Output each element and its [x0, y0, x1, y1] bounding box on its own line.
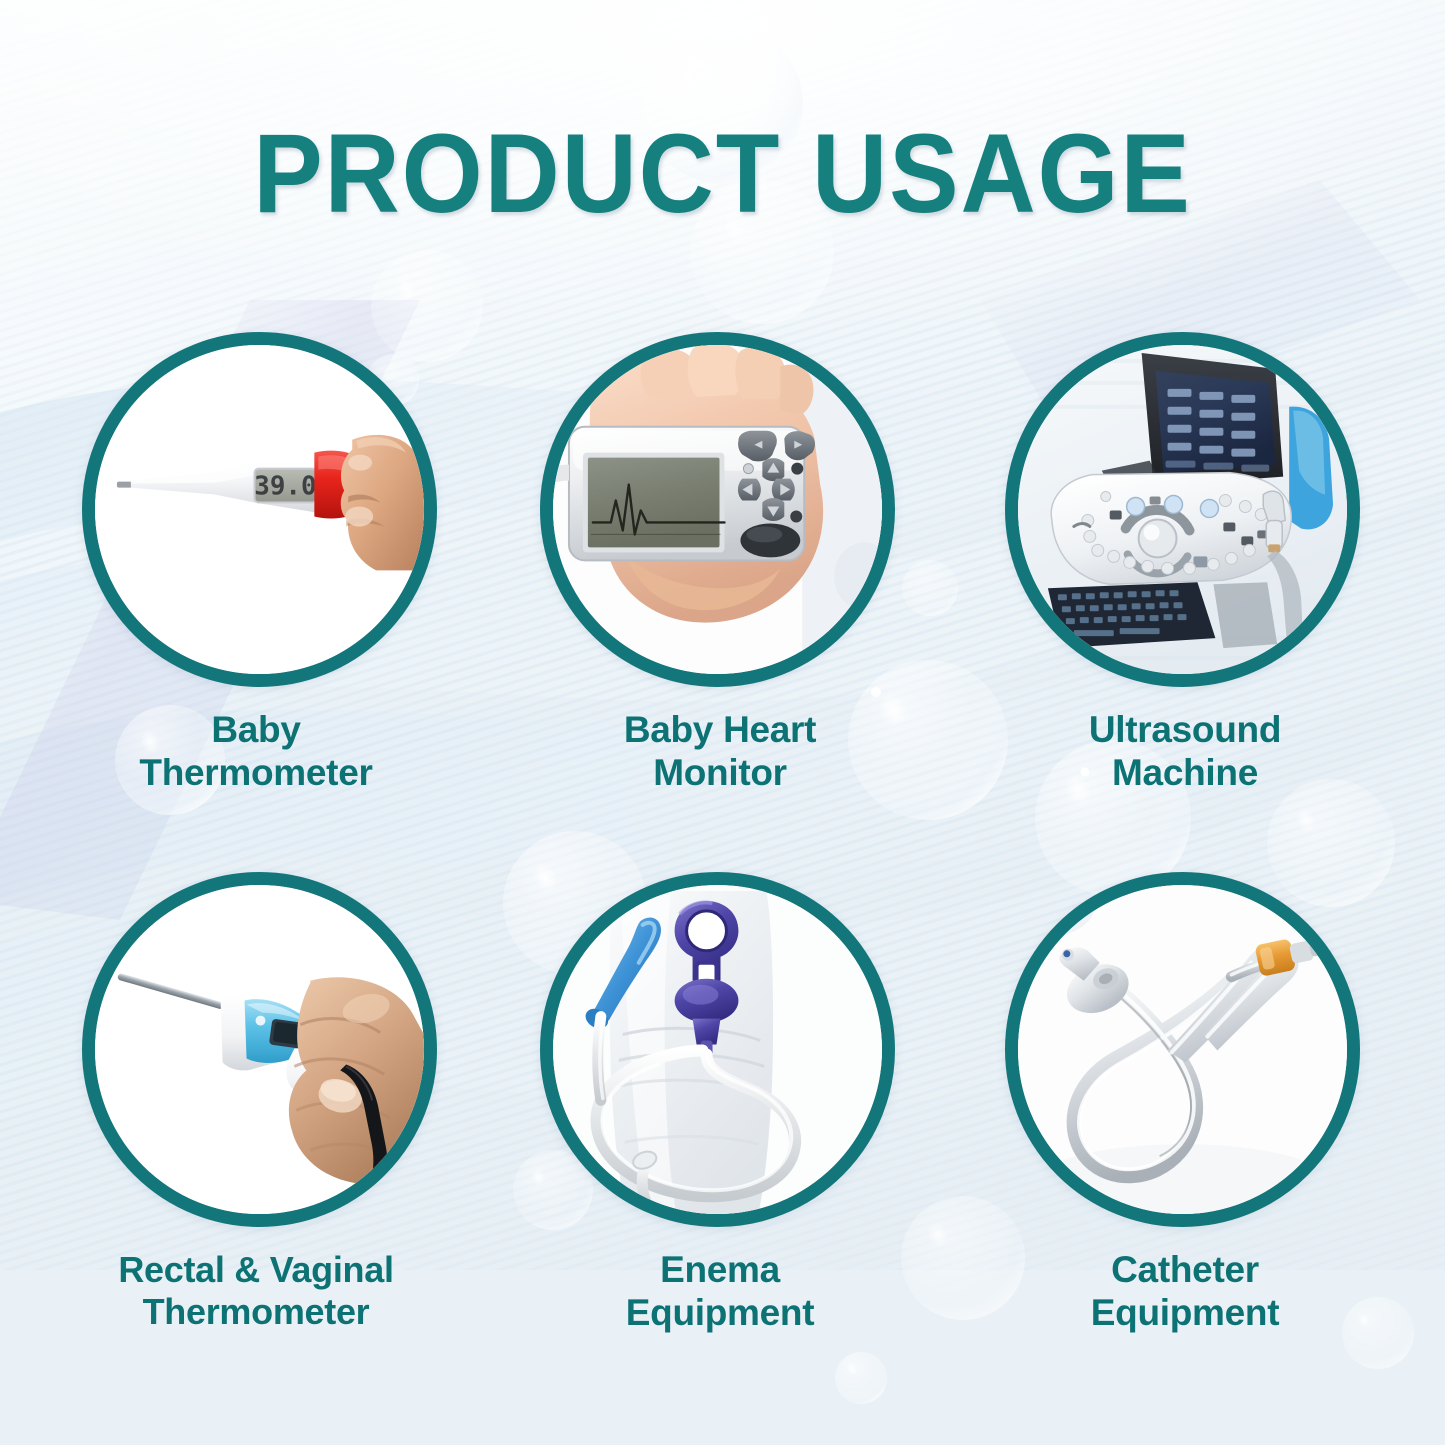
product-image-circle-catheter-equipment — [1005, 872, 1360, 1227]
product-label-enema-equipment: Enema Equipment — [540, 1249, 900, 1335]
page-title: PRODUCT USAGE — [51, 118, 1395, 230]
photo-enema-equipment — [553, 885, 882, 1214]
photo-catheter-equipment — [1018, 885, 1347, 1214]
product-label-ultrasound-machine: Ultrasound Machine — [1005, 709, 1365, 795]
product-label-catheter-equipment: Catheter Equipment — [1005, 1249, 1365, 1335]
product-card-catheter-equipment[interactable]: Catheter Equipment — [1005, 872, 1365, 1335]
product-card-baby-thermometer[interactable]: 39.0 Baby Thermometer — [82, 332, 442, 795]
photo-ultrasound-machine — [1018, 345, 1347, 674]
product-card-baby-heart-monitor[interactable]: Baby Heart Monitor — [540, 332, 900, 795]
product-card-rectal-vaginal-thermometer[interactable]: Rectal & Vaginal Thermometer — [82, 872, 442, 1333]
product-card-enema-equipment[interactable]: Enema Equipment — [540, 872, 900, 1335]
product-image-circle-baby-heart-monitor — [540, 332, 895, 687]
product-label-baby-thermometer: Baby Thermometer — [76, 709, 436, 795]
photo-rectal-vaginal-thermometer — [95, 885, 424, 1214]
photo-baby-thermometer: 39.0 — [95, 345, 424, 674]
product-label-baby-heart-monitor: Baby Heart Monitor — [540, 709, 900, 795]
photo-baby-heart-monitor — [553, 345, 882, 674]
product-label-rectal-vaginal-thermometer: Rectal & Vaginal Thermometer — [76, 1249, 436, 1333]
product-card-ultrasound-machine[interactable]: Ultrasound Machine — [1005, 332, 1365, 795]
product-image-circle-rectal-vaginal-thermometer — [82, 872, 437, 1227]
product-image-circle-ultrasound-machine — [1005, 332, 1360, 687]
product-image-circle-enema-equipment — [540, 872, 895, 1227]
svg-text:39.0: 39.0 — [254, 472, 316, 502]
product-image-circle-baby-thermometer: 39.0 — [82, 332, 437, 687]
